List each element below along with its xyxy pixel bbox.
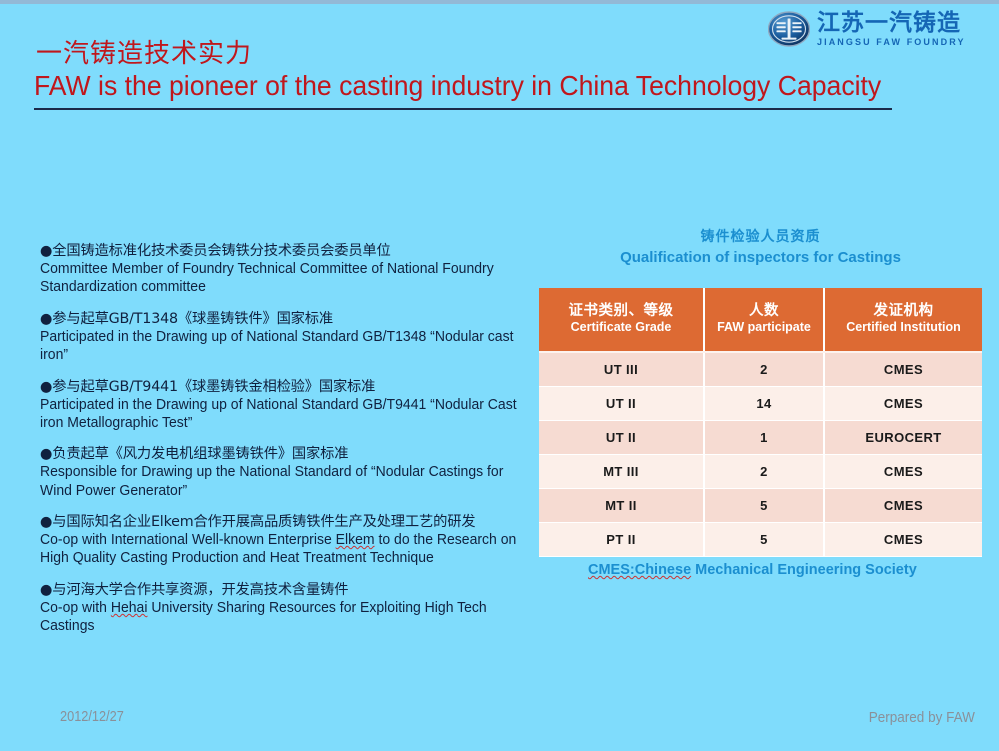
bullet-en-part1: Co-op with International Well-known Ente… [40, 532, 336, 548]
page-title-cn: 一汽铸造技术实力 [36, 33, 252, 70]
bullet-text-en: Participated in the Drawing up of Nation… [40, 396, 531, 433]
bullet-text-en: Responsible for Drawing up the National … [40, 463, 531, 500]
bullet-en-part1: Co-op with [40, 600, 111, 616]
bullet-body-cn: 负责起草《风力发电机组球墨铸铁件》国家标准 [52, 446, 348, 462]
cell-institution: CMES [824, 489, 982, 523]
achievements-list: ●全国铸造标准化技术委员会铸铁分技术委员会委员单位 Committee Memb… [40, 243, 532, 636]
cell-institution: CMES [824, 523, 982, 557]
faw-oval-emblem-icon [768, 8, 810, 50]
cell-institution: CMES [824, 387, 982, 421]
table-header-row: 证书类别、等级 Certificate Grade 人数 FAW partici… [539, 288, 982, 352]
bullet-body-cn: 全国铸造标准化技术委员会铸铁分技术委员会委员单位 [52, 243, 390, 259]
footer-credit: Perpared by FAW [869, 709, 975, 726]
list-item: ●与河海大学合作共享资源，开发高技术含量铸件 Co-op with Hehai … [40, 582, 532, 636]
bullet-body-cn: 与河海大学合作共享资源，开发高技术含量铸件 [52, 582, 348, 598]
title-divider [34, 108, 892, 110]
bullet-text-cn: ●全国铸造标准化技术委员会铸铁分技术委员会委员单位 [40, 243, 532, 259]
list-item: ●全国铸造标准化技术委员会铸铁分技术委员会委员单位 Committee Memb… [40, 243, 532, 297]
cell-institution: CMES [824, 455, 982, 489]
cell-grade: UT III [539, 352, 704, 387]
list-item: ●负责起草《风力发电机组球墨铸铁件》国家标准 Responsible for D… [40, 446, 532, 500]
table-header-certificate-grade: 证书类别、等级 Certificate Grade [539, 288, 704, 352]
bullet-marker: ● [40, 243, 52, 259]
table-row: UT III 2 CMES [539, 352, 982, 387]
cell-grade: MT II [539, 489, 704, 523]
header-en: FAW participate [707, 320, 821, 335]
footnote-spellcheck-word: CMES:Chinese [588, 562, 691, 578]
bullet-marker: ● [40, 514, 52, 530]
cell-grade: PT II [539, 523, 704, 557]
inspector-qualification-table: 证书类别、等级 Certificate Grade 人数 FAW partici… [539, 288, 982, 557]
bullet-body-cn: 与国际知名企业Elkem合作开展高品质铸铁件生产及处理工艺的研发 [52, 514, 475, 530]
bullet-text-cn: ●负责起草《风力发电机组球墨铸铁件》国家标准 [40, 446, 532, 462]
bullet-text-en: Committee Member of Foundry Technical Co… [40, 260, 531, 297]
cell-grade: MT III [539, 455, 704, 489]
header-cn: 人数 [707, 303, 821, 320]
panel-heading-en: Qualification of inspectors for Castings [539, 248, 982, 268]
header-en: Certified Institution [827, 320, 980, 335]
top-accent-strip [0, 0, 999, 4]
bullet-text-en: Participated in the Drawing up of Nation… [40, 328, 531, 365]
page-title-en: FAW is the pioneer of the casting indust… [34, 70, 881, 102]
bullet-marker: ● [40, 379, 52, 395]
cell-grade: UT II [539, 387, 704, 421]
logo-wordmark: 江苏一汽铸造 JIANGSU FAW FOUNDRY [817, 12, 966, 47]
header-cn: 发证机构 [827, 303, 980, 320]
panel-heading-cn: 铸件检验人员资质 [539, 229, 982, 247]
cell-count: 14 [704, 387, 824, 421]
bullet-marker: ● [40, 582, 52, 598]
table-header-faw-participate: 人数 FAW participate [704, 288, 824, 352]
cell-institution: EUROCERT [824, 421, 982, 455]
logo-name-en: JIANGSU FAW FOUNDRY [817, 38, 966, 47]
cell-count: 5 [704, 489, 824, 523]
cell-count: 1 [704, 421, 824, 455]
bullet-text-cn: ●参与起草GB/T9441《球墨铸铁金相检验》国家标准 [40, 379, 532, 395]
table-row: MT II 5 CMES [539, 489, 982, 523]
list-item: ●参与起草GB/T9441《球墨铸铁金相检验》国家标准 Participated… [40, 379, 532, 433]
cell-count: 2 [704, 455, 824, 489]
footnote-rest: Mechanical Engineering Society [691, 562, 917, 578]
cell-count: 5 [704, 523, 824, 557]
bullet-marker: ● [40, 446, 52, 462]
bullet-body-cn: 参与起草GB/T9441《球墨铸铁金相检验》国家标准 [52, 379, 375, 395]
table-header-certified-institution: 发证机构 Certified Institution [824, 288, 982, 352]
header-en: Certificate Grade [541, 320, 701, 335]
cell-grade: UT II [539, 421, 704, 455]
bullet-body-cn: 参与起草GB/T1348《球墨铸铁件》国家标准 [52, 311, 333, 327]
bullet-text-cn: ●参与起草GB/T1348《球墨铸铁件》国家标准 [40, 311, 532, 327]
table-footnote: CMES:Chinese Mechanical Engineering Soci… [588, 562, 917, 578]
bullet-text-en: Co-op with International Well-known Ente… [40, 531, 531, 568]
table-row: MT III 2 CMES [539, 455, 982, 489]
cell-count: 2 [704, 352, 824, 387]
footer-date: 2012/12/27 [60, 709, 124, 725]
panel-heading: 铸件检验人员资质 Qualification of inspectors for… [539, 229, 982, 267]
bullet-text-en: Co-op with Hehai University Sharing Reso… [40, 599, 531, 636]
table-row: UT II 1 EUROCERT [539, 421, 982, 455]
logo-name-cn: 江苏一汽铸造 [817, 12, 966, 35]
table-row: UT II 14 CMES [539, 387, 982, 421]
list-item: ●与国际知名企业Elkem合作开展高品质铸铁件生产及处理工艺的研发 Co-op … [40, 514, 532, 568]
bullet-text-cn: ●与河海大学合作共享资源，开发高技术含量铸件 [40, 582, 532, 598]
company-logo: 江苏一汽铸造 JIANGSU FAW FOUNDRY [768, 8, 990, 50]
table-row: PT II 5 CMES [539, 523, 982, 557]
bullet-marker: ● [40, 311, 52, 327]
list-item: ●参与起草GB/T1348《球墨铸铁件》国家标准 Participated in… [40, 311, 532, 365]
bullet-en-spellcheck-word: Elkem [336, 532, 375, 548]
bullet-en-spellcheck-word: Hehai [111, 600, 148, 616]
header-cn: 证书类别、等级 [541, 303, 701, 320]
cell-institution: CMES [824, 352, 982, 387]
bullet-text-cn: ●与国际知名企业Elkem合作开展高品质铸铁件生产及处理工艺的研发 [40, 514, 532, 530]
